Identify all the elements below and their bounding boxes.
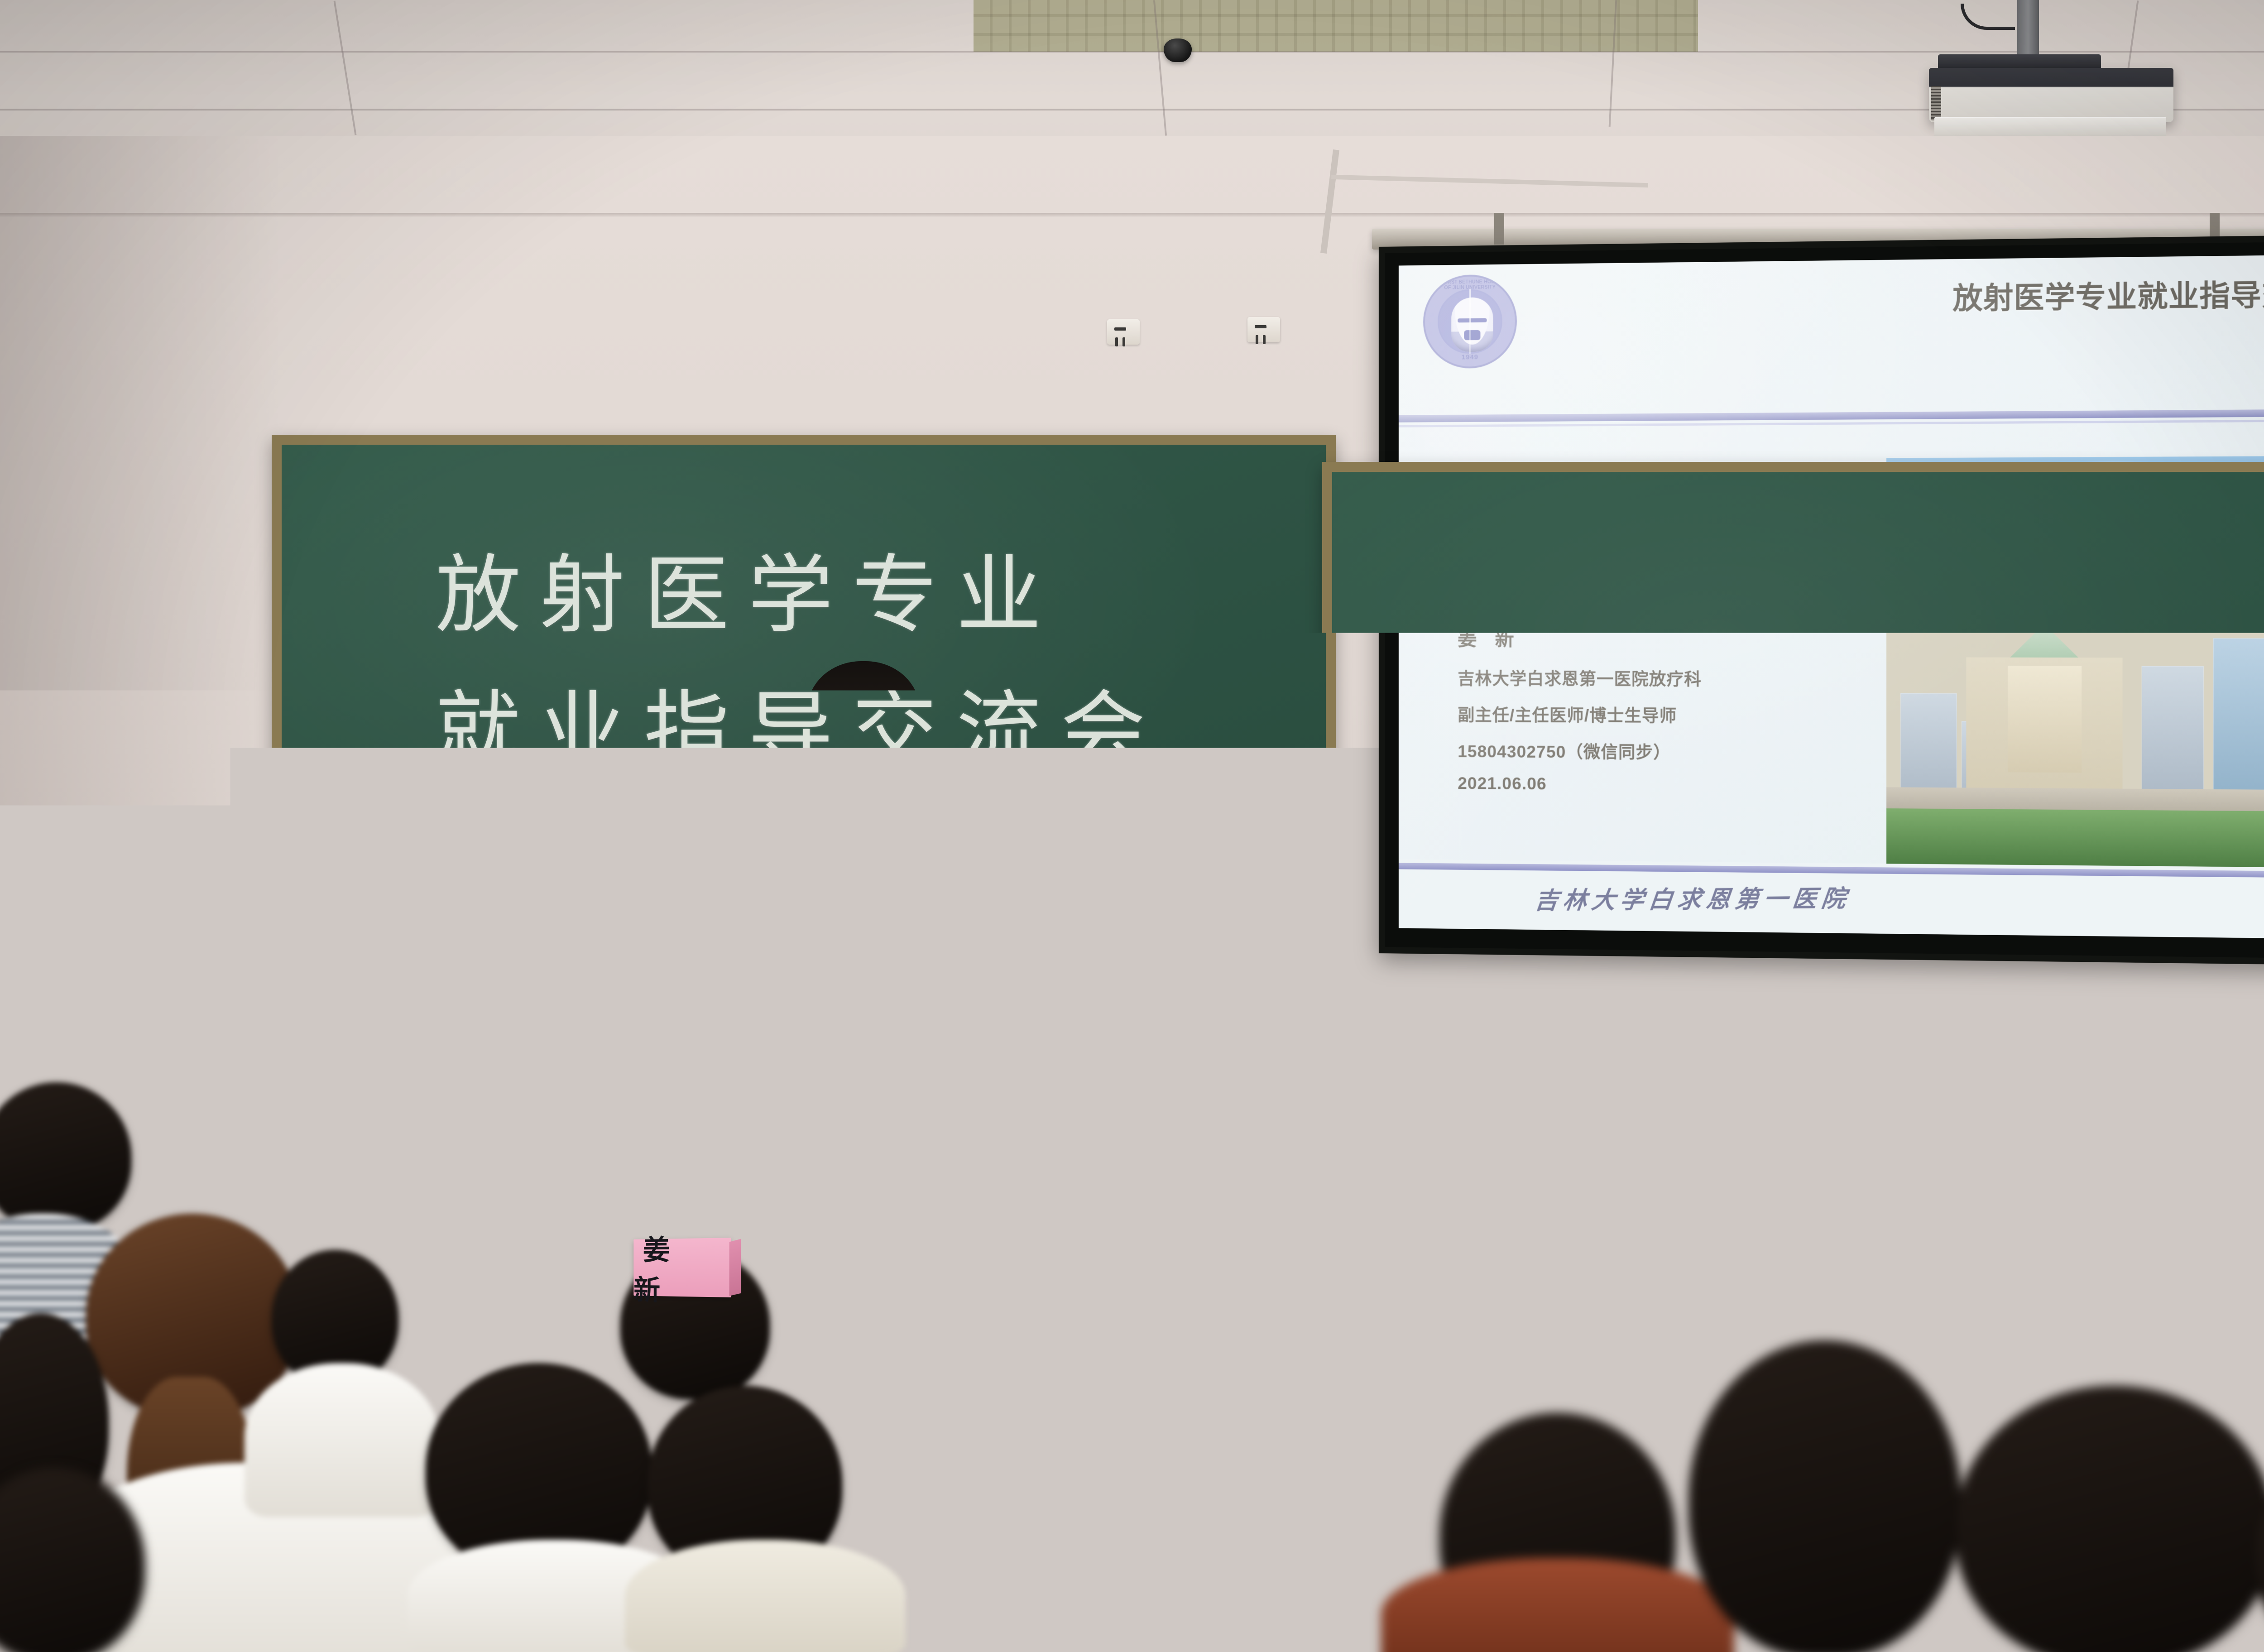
eyeglasses-icon <box>815 727 912 748</box>
wall-junction-box <box>1247 317 1280 342</box>
phone-preview-blackboard <box>1765 974 1815 999</box>
student-smartphone[interactable] <box>765 1288 831 1315</box>
blackboard-surface <box>1332 472 2264 1013</box>
desk-item-red-object[interactable] <box>317 965 380 976</box>
hospital-logo-icon: THE FIRST BETHUNE HOSPITAL OF JILIN UNIV… <box>1423 274 1517 369</box>
audience-head <box>2119 1205 2264 1359</box>
presenter-trousers <box>772 1028 958 1082</box>
audience-head <box>1956 1386 2264 1652</box>
logo-portrait-eyes <box>1458 318 1487 323</box>
eyeglass-lens <box>868 727 907 747</box>
screen-mount-bracket <box>1494 213 1504 245</box>
podium-drawer-rail <box>885 1153 1017 1162</box>
presenter-eyebrow <box>828 723 857 727</box>
eyeglass-bridge <box>854 735 868 737</box>
water-bottle[interactable] <box>955 867 993 994</box>
bottle-label <box>1629 1238 1659 1274</box>
bottle-label <box>957 935 992 977</box>
audience-head <box>1503 1087 1635 1223</box>
phone-screen[interactable] <box>1763 961 1871 1009</box>
bottle-cap <box>1636 1180 1653 1192</box>
presenter-eyebrow <box>872 723 901 727</box>
bottle-cap <box>964 867 984 882</box>
projector <box>1929 68 2173 122</box>
wall-outlet[interactable] <box>1413 1159 1439 1196</box>
desk-item-red-box[interactable] <box>494 973 537 983</box>
projector-vent-icon <box>1931 86 1941 120</box>
smartphone-on-tripod[interactable] <box>1753 943 1889 1027</box>
wall-outlet[interactable] <box>1266 1162 1292 1199</box>
phone-preview-podium <box>1765 999 1815 1008</box>
logo-portrait <box>1451 297 1493 352</box>
tripod-column <box>1820 1042 1832 1295</box>
logo-ring-text: THE FIRST BETHUNE HOSPITAL OF JILIN UNIV… <box>1429 279 1511 291</box>
phone-preview-slide <box>1817 969 1869 1002</box>
wall-junction-box <box>1107 319 1140 345</box>
projector-mount <box>2017 0 2039 59</box>
water-bottle[interactable] <box>1627 1180 1651 1262</box>
ceiling-acoustic-panel <box>974 0 1698 52</box>
wall-seam <box>0 213 2264 217</box>
ceiling-grid-line <box>0 109 2264 110</box>
slide-header-title: 放射医学专业就业指导交流会 <box>1952 270 2264 317</box>
eyeglass-lens <box>815 727 854 747</box>
wireless-microphone-icon <box>838 931 881 984</box>
audience-torso <box>245 1363 439 1517</box>
ceiling-grid-line <box>0 51 2264 53</box>
slide-header: THE FIRST BETHUNE HOSPITAL OF JILIN UNIV… <box>1399 254 2264 415</box>
floor-tile-line <box>1087 1454 1089 1648</box>
wall-scuff <box>1123 1250 1241 1268</box>
presenter-mouth <box>848 772 874 783</box>
presenter-name-card: 姜 新 <box>633 1238 731 1297</box>
ceiling-dome-detector-icon <box>1164 38 1192 62</box>
audience-torso <box>625 1540 906 1652</box>
audience-head <box>1875 1096 2001 1232</box>
smartphone[interactable] <box>1753 955 1881 1016</box>
phone-preview-wall <box>1765 963 1815 974</box>
classroom-photo-scene: 放射医学专业 就业指导交流会 THE FIRST BETHUNE HOSPITA… <box>0 0 2264 1652</box>
logo-portrait-beard <box>1464 330 1480 340</box>
chalkboard-line-1: 放射医学专业 <box>436 526 1060 649</box>
name-card-text: 姜 新 <box>633 1225 731 1309</box>
logo-year: 1949 <box>1425 353 1515 361</box>
record-indicator-icon <box>1817 962 1837 967</box>
blackboard-right <box>1322 462 2264 1023</box>
phone-preview-presenter <box>1780 982 1787 996</box>
audience-head <box>1689 1340 1961 1652</box>
